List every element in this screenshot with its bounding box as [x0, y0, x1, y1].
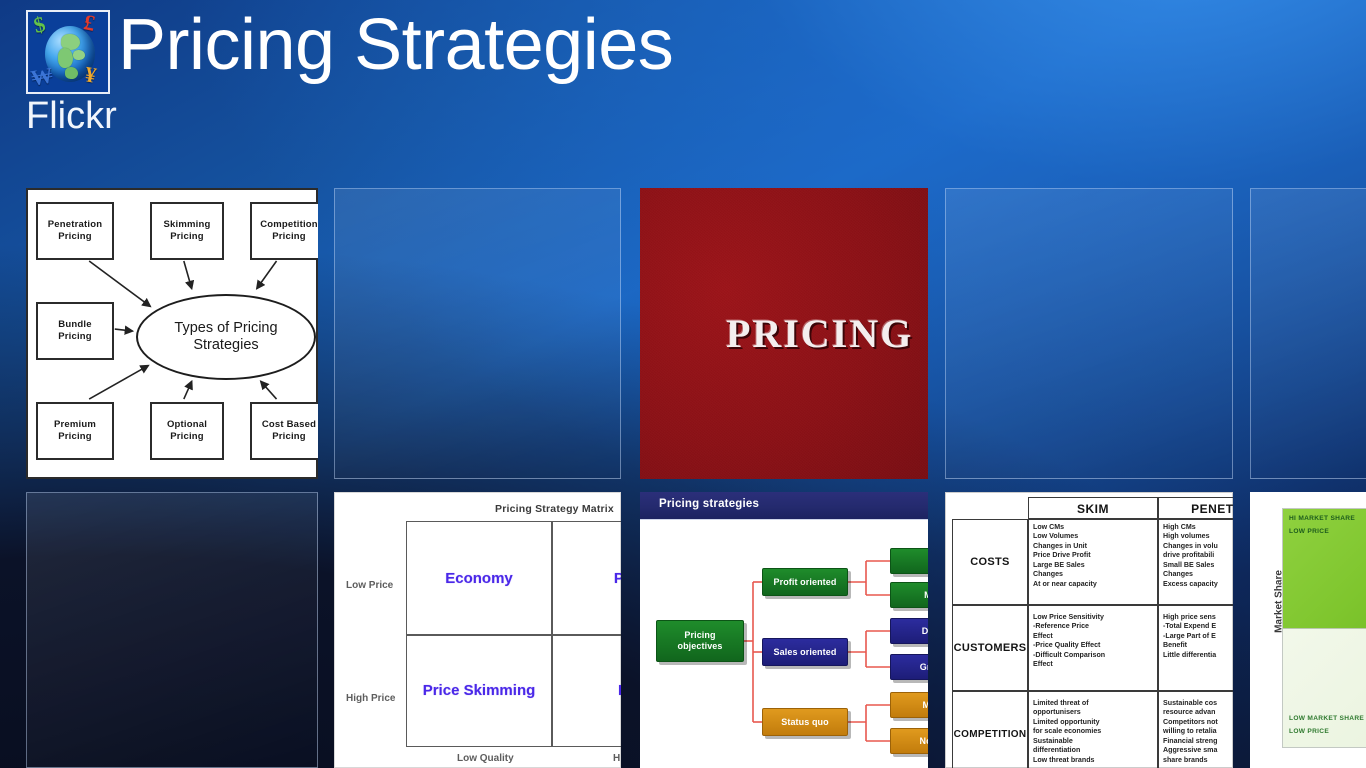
- table-row-header: CUSTOMERS: [952, 605, 1028, 691]
- tree-leaf-node: Max: [890, 582, 928, 608]
- tree-branch-node: Profit oriented: [762, 568, 848, 596]
- dollar-symbol-icon: $: [32, 13, 48, 37]
- diagram-box: Penetration Pricing: [36, 202, 114, 260]
- matrix-cell: Economy: [407, 522, 551, 634]
- result-tile-market-share-matrix[interactable]: Market Share HI MARKET SHARE LOW PRICE L…: [1250, 492, 1366, 768]
- matrix-cell: Pe: [551, 522, 621, 634]
- matrix-x-label: Low Quality: [457, 753, 514, 764]
- result-tile-blank[interactable]: [1250, 188, 1366, 479]
- table-cell: Limited threat of opportunisers Limited …: [1028, 695, 1158, 768]
- matrix-canvas: Pricing Strategy Matrix Economy Pe Price…: [334, 492, 621, 768]
- page-header: $ £ ₩ ¥ Pricing Strategies Flickr: [0, 0, 1366, 180]
- matrix-grid: Economy Pe Price Skimming P: [406, 521, 621, 747]
- quadrant-label-line: LOW PRICE: [1289, 528, 1329, 535]
- diagram-canvas: Penetration Pricing Skimming Pricing Com…: [26, 188, 318, 479]
- matrix-cell: P: [551, 634, 621, 746]
- matrix-cell: Price Skimming: [407, 634, 551, 746]
- tree-titlebar: Pricing strategies: [640, 492, 928, 520]
- table-cell-border: [1028, 497, 1158, 519]
- matrix-y-label: High Price: [346, 693, 395, 704]
- tree-title: Pricing strategies: [659, 498, 759, 510]
- tree-leaf-node: Meet: [890, 692, 928, 718]
- result-tile-pricing-red[interactable]: PRICING: [640, 188, 928, 479]
- tree-leaf-node: Dolla: [890, 618, 928, 644]
- green-matrix-quadrant-top: HI MARKET SHARE LOW PRICE: [1283, 509, 1366, 628]
- image-results-grid: Penetration Pricing Skimming Pricing Com…: [0, 188, 1366, 768]
- table-cell: Low Price Sensitivity -Reference Price E…: [1028, 609, 1158, 691]
- tile-placeholder: [946, 189, 1232, 478]
- table-cell: Sustainable cos resource advan Competito…: [1158, 695, 1233, 768]
- table-cell: High price sens -Total Expend E -Large P…: [1158, 609, 1233, 691]
- green-matrix-canvas: Market Share HI MARKET SHARE LOW PRICE L…: [1250, 492, 1366, 768]
- diagram-box: Bundle Pricing: [36, 302, 114, 360]
- tree-leaf-node: Growt: [890, 654, 928, 680]
- tile-placeholder: [1251, 189, 1366, 478]
- won-symbol-icon: ₩: [29, 64, 54, 89]
- quadrant-label-line: LOW PRICE: [1289, 728, 1329, 735]
- tile-placeholder: [27, 493, 317, 767]
- pound-symbol-icon: £: [82, 11, 97, 35]
- table-cell-border: [1158, 497, 1233, 519]
- diagram-box: Cost Based Pricing: [250, 402, 318, 460]
- green-matrix-quadrant-bottom: LOW MARKET SHARE LOW PRICE: [1283, 628, 1366, 747]
- matrix-y-label: Low Price: [346, 580, 393, 591]
- table-cell: High CMs High volumes Changes in volu dr…: [1158, 519, 1233, 605]
- yen-symbol-icon: ¥: [83, 63, 98, 87]
- result-tile-pricing-strategies-tree[interactable]: Pricing strategies: [640, 492, 928, 768]
- table-cell: Low CMs Low Volumes Changes in Unit Pric…: [1028, 519, 1158, 605]
- tree-canvas: Pricing strategies: [640, 492, 928, 768]
- table-row-header: COMPETITION: [949, 691, 1031, 768]
- app-icon[interactable]: $ £ ₩ ¥: [26, 10, 110, 94]
- tree-leaf-node: Ta: [890, 548, 928, 574]
- table-row-header: COSTS: [952, 519, 1028, 605]
- result-tile-types-of-pricing-strategies[interactable]: Penetration Pricing Skimming Pricing Com…: [26, 188, 318, 479]
- result-tile-pricing-strategy-matrix[interactable]: Pricing Strategy Matrix Economy Pe Price…: [334, 492, 621, 768]
- pricing-word: PRICING: [726, 310, 913, 357]
- result-tile-blank[interactable]: [334, 188, 621, 479]
- comparison-table: SKIM PENETRAT COSTS CUSTOMERS COMPETITIO…: [948, 497, 1233, 765]
- diagram-box: Competition Pricing: [250, 202, 318, 260]
- page-subtitle-source: Flickr: [26, 96, 117, 138]
- tree-branch-node: Status quo: [762, 708, 848, 736]
- page-title: Pricing Strategies: [118, 8, 673, 84]
- green-matrix-grid: HI MARKET SHARE LOW PRICE LOW MARKET SHA…: [1282, 508, 1366, 748]
- matrix-title: Pricing Strategy Matrix: [495, 503, 614, 515]
- result-tile-blank[interactable]: [26, 492, 318, 768]
- red-image: PRICING: [640, 188, 928, 479]
- matrix-x-label: H: [613, 753, 620, 764]
- result-tile-blank[interactable]: [945, 188, 1233, 479]
- tree-leaf-node: Nonpr: [890, 728, 928, 754]
- diagram-box: Premium Pricing: [36, 402, 114, 460]
- table-canvas: SKIM PENETRAT COSTS CUSTOMERS COMPETITIO…: [945, 492, 1233, 768]
- tree-body: Pricing objectives Profit oriented Sales…: [640, 520, 928, 768]
- quadrant-label-line: HI MARKET SHARE: [1289, 515, 1355, 522]
- tree-branch-node: Sales oriented: [762, 638, 848, 666]
- quadrant-label-line: LOW MARKET SHARE: [1289, 715, 1364, 722]
- diagram-center-label: Types of Pricing Strategies: [136, 294, 316, 380]
- tile-placeholder: [335, 189, 620, 478]
- tree-root-node: Pricing objectives: [656, 620, 744, 662]
- diagram-box: Optional Pricing: [150, 402, 224, 460]
- diagram-box: Skimming Pricing: [150, 202, 224, 260]
- result-tile-skim-penetration-table[interactable]: SKIM PENETRAT COSTS CUSTOMERS COMPETITIO…: [945, 492, 1233, 768]
